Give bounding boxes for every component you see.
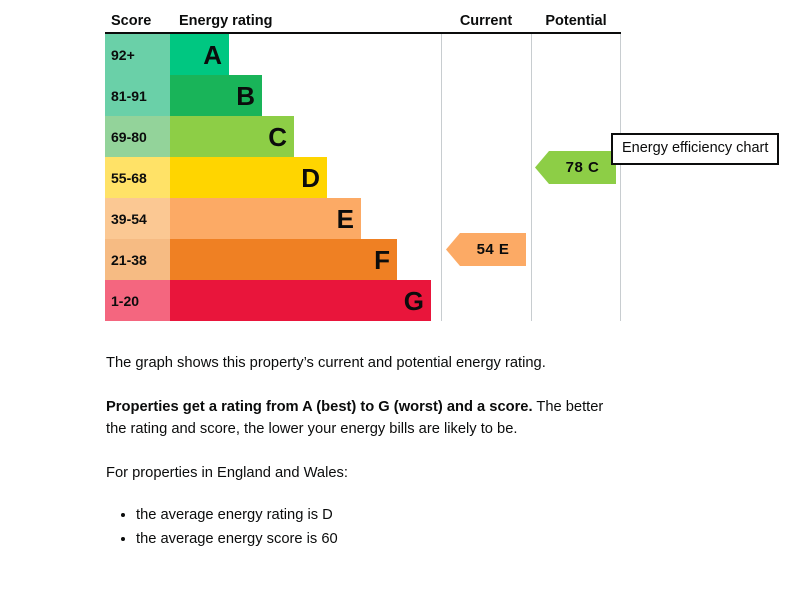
rating-paragraph: Properties get a rating from A (best) to… <box>106 396 626 440</box>
band-row-c: 69-80C <box>105 116 621 157</box>
current-rating-label: 54 E <box>477 241 510 258</box>
column-header-energy-rating: Energy rating <box>170 12 441 32</box>
band-letter-e: E <box>337 206 354 232</box>
current-rating-arrow: 54 E <box>446 233 526 266</box>
band-score-range-e: 39-54 <box>105 198 170 239</box>
band-row-f: 21-38F <box>105 239 621 280</box>
column-header-potential: Potential <box>531 12 621 32</box>
band-bar-c: C <box>170 116 294 157</box>
band-bar-f: F <box>170 239 397 280</box>
band-score-range-g: 1-20 <box>105 280 170 321</box>
band-bar-b: B <box>170 75 262 116</box>
band-bar-g: G <box>170 280 431 321</box>
band-row-g: 1-20G <box>105 280 621 321</box>
band-score-range-d: 55-68 <box>105 157 170 198</box>
potential-rating-label: 78 C <box>566 159 600 176</box>
band-score-range-b: 81-91 <box>105 75 170 116</box>
chart-header-row: Score Energy rating Current Potential <box>105 12 621 34</box>
band-letter-g: G <box>404 288 424 314</box>
column-header-current: Current <box>441 12 531 32</box>
band-row-a: 92+A <box>105 34 621 75</box>
chart-description: The graph shows this property’s current … <box>106 352 626 552</box>
intro-paragraph: The graph shows this property’s current … <box>106 352 626 374</box>
chart-body: 92+A81-91B69-80C55-68D39-54E21-38F1-20G … <box>105 34 621 321</box>
band-row-b: 81-91B <box>105 75 621 116</box>
energy-efficiency-chart: Score Energy rating Current Potential 92… <box>105 12 621 321</box>
potential-rating-arrow: 78 C <box>535 151 616 184</box>
band-score-range-f: 21-38 <box>105 239 170 280</box>
list-item: the average energy rating is D <box>136 504 626 526</box>
band-letter-f: F <box>374 247 390 273</box>
band-score-range-a: 92+ <box>105 34 170 75</box>
column-header-score: Score <box>105 12 170 32</box>
band-bar-e: E <box>170 198 361 239</box>
band-letter-b: B <box>236 83 255 109</box>
band-letter-a: A <box>203 42 222 68</box>
region-intro: For properties in England and Wales: <box>106 462 626 484</box>
band-letter-d: D <box>301 165 320 191</box>
chart-callout-label: Energy efficiency chart <box>611 133 779 165</box>
list-item: the average energy score is 60 <box>136 528 626 550</box>
band-letter-c: C <box>268 124 287 150</box>
band-row-e: 39-54E <box>105 198 621 239</box>
band-score-range-c: 69-80 <box>105 116 170 157</box>
band-bar-d: D <box>170 157 327 198</box>
averages-list: the average energy rating is Dthe averag… <box>106 504 626 550</box>
band-bar-a: A <box>170 34 229 75</box>
rating-paragraph-bold: Properties get a rating from A (best) to… <box>106 399 533 415</box>
